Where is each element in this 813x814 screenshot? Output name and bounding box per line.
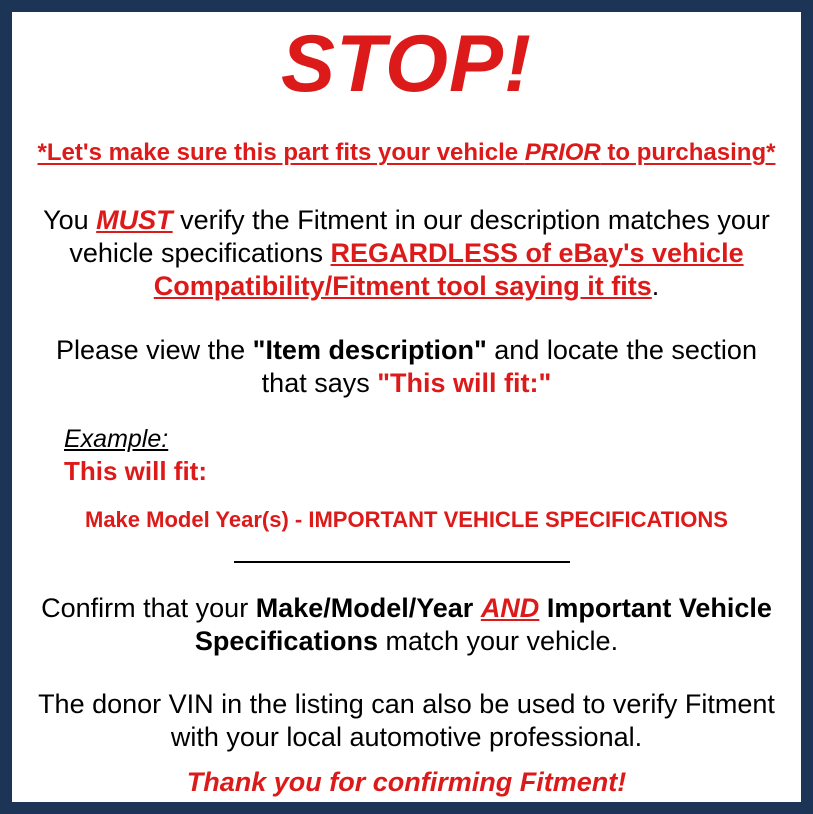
subtitle-text-after: to purchasing*	[601, 139, 776, 166]
must-emphasis-must: MUST	[96, 205, 173, 235]
paragraph-confirm: Confirm that your Make/Model/Year AND Im…	[34, 592, 779, 658]
view-emphasis-item-description: "Item description"	[253, 335, 487, 365]
must-text-part3: .	[652, 271, 660, 301]
subtitle-text-before: *Let's make sure this part fits your veh…	[38, 139, 525, 166]
view-text-part1: Please view the	[56, 335, 253, 365]
confirm-text-part4: match your vehicle.	[378, 626, 618, 656]
notice-inner-panel: STOP! *Let's make sure this part fits yo…	[12, 12, 801, 802]
example-spec-line: Make Model Year(s) - IMPORTANT VEHICLE S…	[12, 506, 801, 534]
confirm-emphasis-and: AND	[481, 593, 540, 623]
must-text-part1: You	[43, 205, 96, 235]
subtitle-line: *Let's make sure this part fits your veh…	[12, 138, 801, 168]
section-divider	[234, 561, 570, 563]
confirm-text-part1: Confirm that your	[41, 593, 256, 623]
paragraph-must-verify: You MUST verify the Fitment in our descr…	[34, 204, 779, 303]
confirm-text-part3	[539, 593, 547, 623]
subtitle-emphasis-prior: PRIOR	[525, 139, 601, 166]
confirm-text-part2	[473, 593, 481, 623]
thank-you-line: Thank you for confirming Fitment!	[34, 766, 779, 799]
view-emphasis-this-will-fit: "This will fit:"	[377, 368, 551, 398]
fitment-notice-banner: STOP! *Let's make sure this part fits yo…	[0, 0, 813, 814]
example-fit-heading: This will fit:	[64, 456, 207, 486]
example-label: Example:	[64, 424, 168, 454]
stop-headline: STOP!	[12, 24, 801, 105]
paragraph-donor-vin: The donor VIN in the listing can also be…	[34, 688, 779, 754]
confirm-emphasis-make-model-year: Make/Model/Year	[256, 593, 474, 623]
paragraph-view-description: Please view the "Item description" and l…	[34, 334, 779, 400]
